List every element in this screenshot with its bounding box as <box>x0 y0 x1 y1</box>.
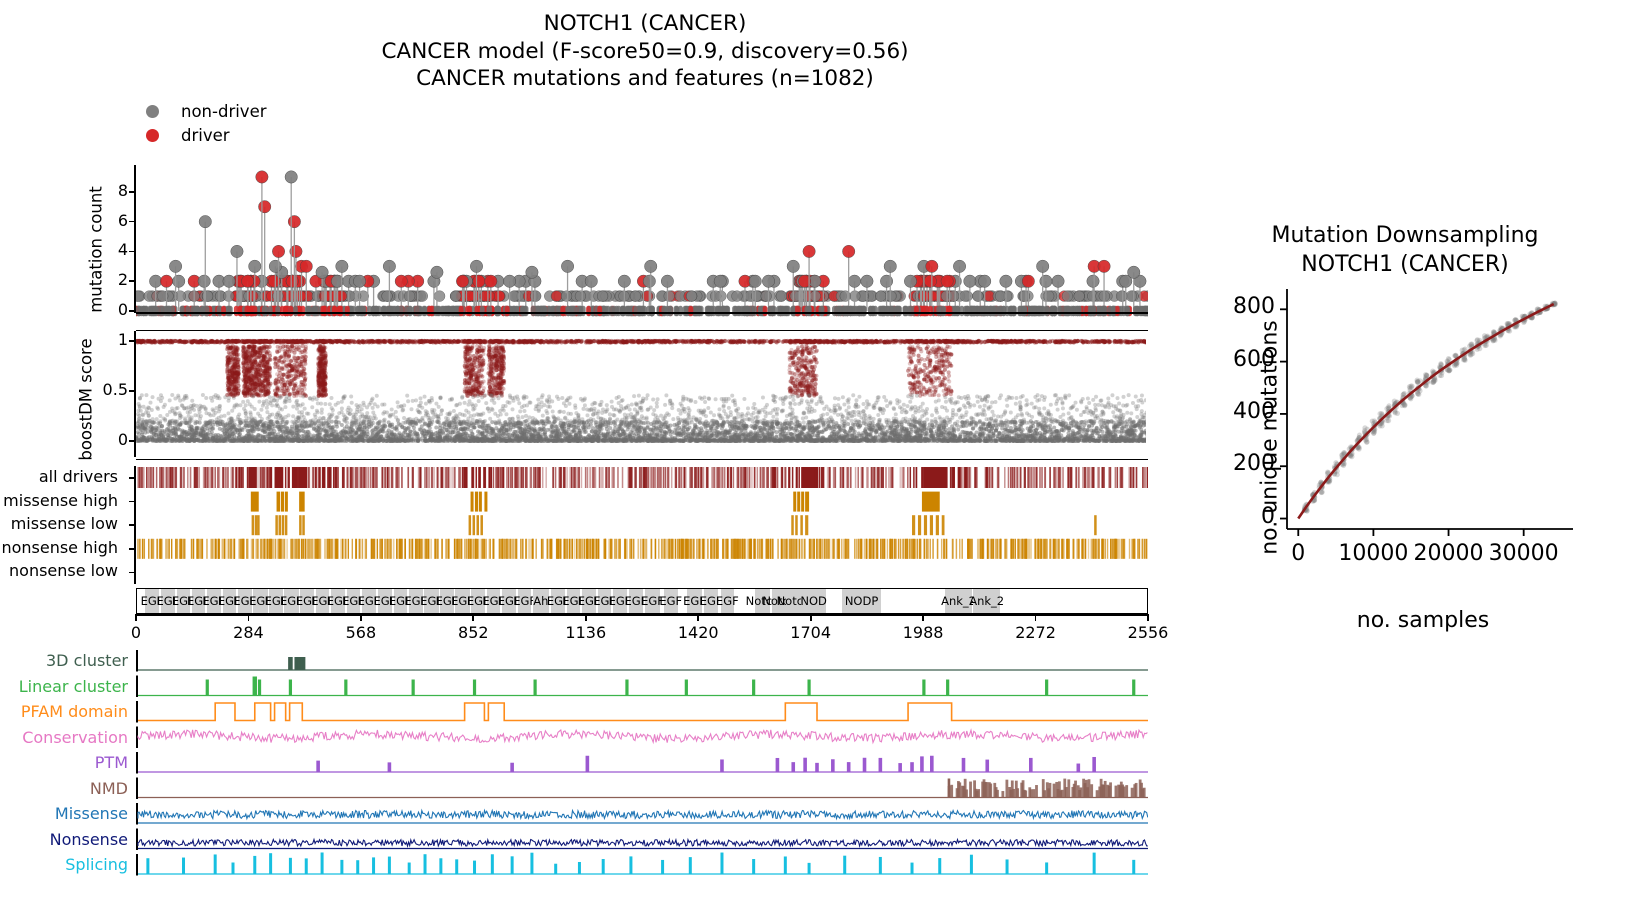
page-title: NOTCH1 (CANCER) CANCER model (F-score50=… <box>230 10 1060 93</box>
x-axis-spine <box>136 312 1148 314</box>
pfam-domain-label: EGF <box>716 594 739 608</box>
y-axis-spine <box>134 331 136 457</box>
boostdm-plot-svg <box>136 331 1146 457</box>
bottom-feature-tracks-svg <box>136 648 1148 880</box>
circle-marker-icon <box>146 105 159 118</box>
bottom-feature-label: Conservation <box>0 725 128 751</box>
pfam-domain-label: NODP <box>845 594 878 608</box>
x-tick-mark <box>472 614 474 621</box>
title-line-3: CANCER mutations and features (n=1082) <box>230 65 1060 93</box>
legend-label: non-driver <box>181 102 267 121</box>
feature-track-label: all drivers <box>0 467 118 486</box>
boostdm-score-plot: 10.50 <box>136 330 1148 460</box>
protein-position-axis: 0284568852113614201704198822722556 <box>136 614 1148 648</box>
downsampling-title-line-2: NOTCH1 (CANCER) <box>1205 251 1605 280</box>
pfam-domain-box[interactable]: EGF <box>645 589 659 613</box>
pfam-domain-box[interactable]: Notch <box>786 589 800 613</box>
y-tick-label: 800 <box>1209 294 1275 319</box>
x-tick-label: 284 <box>208 623 288 642</box>
x-tick-label: 1988 <box>883 623 963 642</box>
feature-track-label: nonsense high <box>0 538 118 557</box>
x-axis-spine <box>136 614 1148 616</box>
downsampling-xlabel: no. samples <box>1273 608 1573 633</box>
y-tick-label: 0.5 <box>84 380 128 399</box>
pfam-domain-box[interactable]: EGF <box>664 589 678 613</box>
x-tick-mark <box>585 614 587 621</box>
pfam-domain-box[interactable]: NOD <box>801 589 826 613</box>
downsampling-title-line-1: Mutation Downsampling <box>1205 222 1605 251</box>
legend: non-driver driver <box>146 99 267 147</box>
x-tick-label: 0 <box>96 623 176 642</box>
pfam-domain-box[interactable]: Ank_2 <box>973 589 1000 613</box>
x-tick-mark <box>1147 614 1149 621</box>
x-tick-label: 30000 <box>1464 541 1584 566</box>
y-tick-label: 8 <box>84 181 128 200</box>
x-tick-mark <box>810 614 812 621</box>
bottom-feature-label: Nonsense <box>0 827 128 853</box>
feature-tracks-svg <box>136 466 1148 584</box>
bottom-feature-label: PTM <box>0 750 128 776</box>
y-axis-spine <box>134 165 136 313</box>
pfam-domain-box[interactable]: EGF <box>518 589 531 613</box>
pfam-domain-box[interactable]: EGF <box>721 589 734 613</box>
x-tick-label: 2556 <box>1108 623 1188 642</box>
pfam-domain-label: NOD <box>800 594 827 608</box>
pfam-domain-box[interactable]: NODP <box>842 589 882 613</box>
x-tick-mark <box>697 614 699 621</box>
y-tick-label: 200 <box>1209 451 1275 476</box>
x-tick-label: 1420 <box>658 623 738 642</box>
bottom-feature-tracks-panel <box>136 648 1148 880</box>
y-tick-label: 0 <box>1209 504 1275 529</box>
x-tick-mark <box>1035 614 1037 621</box>
y-tick-label: 1 <box>84 330 128 349</box>
feature-track-label: nonsense low <box>0 561 118 580</box>
feature-track-label: missense high <box>0 491 118 510</box>
bottom-feature-label: NMD <box>0 776 128 802</box>
bottom-feature-label: PFAM domain <box>0 699 128 725</box>
circle-marker-icon <box>146 129 159 142</box>
y-tick-label: 600 <box>1209 347 1275 372</box>
bottom-feature-label: Splicing <box>0 852 128 878</box>
x-tick-mark <box>248 614 250 621</box>
x-tick-label: 568 <box>321 623 401 642</box>
bottom-feature-label: Linear cluster <box>0 674 128 700</box>
y-tick-label: 2 <box>84 270 128 289</box>
feature-track-label: missense low <box>0 514 118 533</box>
x-tick-label: 852 <box>433 623 513 642</box>
legend-item-driver: driver <box>146 123 267 147</box>
downsampling-svg <box>1273 285 1573 565</box>
title-line-2: CANCER model (F-score50=0.9, discovery=0… <box>230 38 1060 66</box>
x-tick-label: 1136 <box>546 623 626 642</box>
pfam-domain-label: Ank_2 <box>969 594 1004 608</box>
x-tick-label: 1704 <box>771 623 851 642</box>
bottom-feature-label-column: 3D clusterLinear clusterPFAM domainConse… <box>0 648 128 878</box>
downsampling-chart: 02004006008000100002000030000 <box>1273 285 1573 565</box>
x-tick-mark <box>135 614 137 621</box>
downsampling-chart-title: Mutation Downsampling NOTCH1 (CANCER) <box>1205 222 1605 279</box>
tracks-axis-spine <box>134 466 136 584</box>
y-tick-label: 0 <box>84 430 128 449</box>
y-tick-label: 6 <box>84 211 128 230</box>
needle-plot-svg <box>136 165 1148 325</box>
legend-item-non-driver: non-driver <box>146 99 267 123</box>
legend-label: driver <box>181 126 230 145</box>
x-tick-label: 2272 <box>996 623 1076 642</box>
title-line-1: NOTCH1 (CANCER) <box>230 10 1060 38</box>
y-tick-label: 400 <box>1209 399 1275 424</box>
x-tick-mark <box>922 614 924 621</box>
pfam-domain-label: EGF <box>659 594 682 608</box>
figure-root: NOTCH1 (CANCER) CANCER model (F-score50=… <box>0 0 1650 905</box>
x-tick-mark <box>360 614 362 621</box>
bottom-feature-label: 3D cluster <box>0 648 128 674</box>
mutation-count-plot: 02468 <box>136 165 1148 325</box>
pfam-domain-strip: EGFEGFEGFEGFEGFEGFEGFEGFEGFEGFEGFEGFEGFE… <box>136 588 1148 614</box>
bottom-feature-label: Missense <box>0 801 128 827</box>
feature-tracks-panel <box>136 466 1148 584</box>
y-tick-label: 4 <box>84 240 128 259</box>
